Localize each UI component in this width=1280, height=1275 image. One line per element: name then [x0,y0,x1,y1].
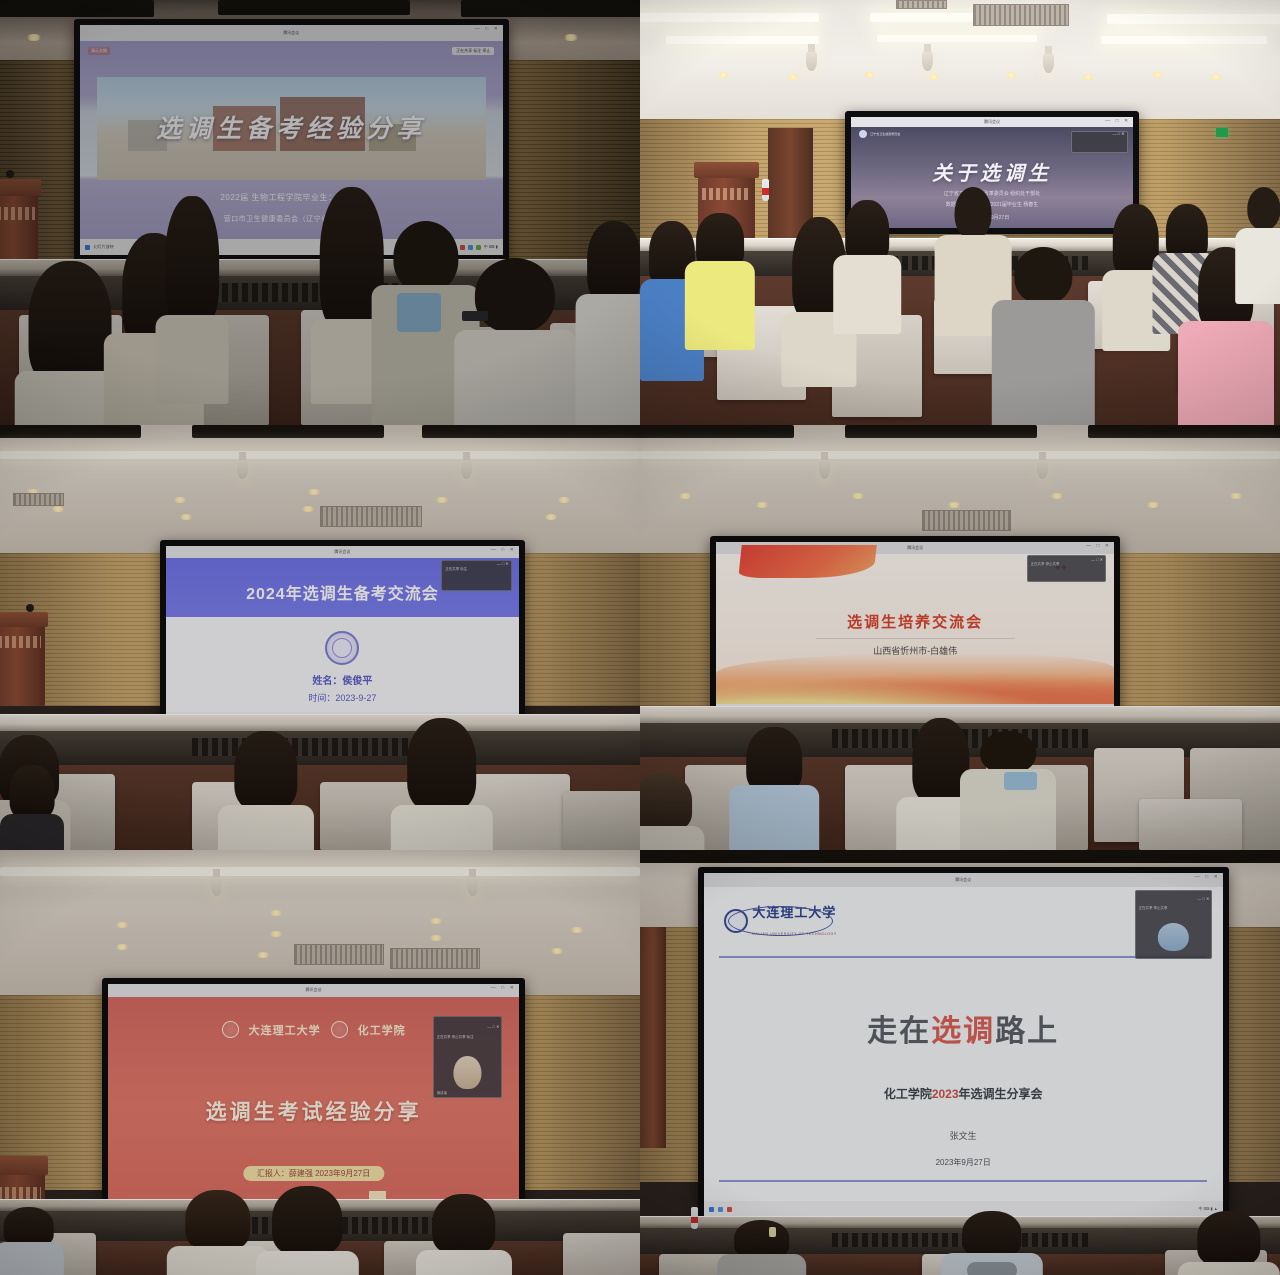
water-bottle [691,1207,698,1229]
camera-pip-window[interactable]: — □ ✕ 正在共享 停止共享 [1027,555,1107,582]
university-seal-icon [222,1021,239,1038]
audience-member [166,1190,268,1275]
photo-collage: 腾讯会议 — □ ✕ 演示文稿 正在共享 标注 停止 选调生备考经验分享 [0,0,1280,1275]
subtitle-part-b: 年选调生分享会 [959,1087,1043,1101]
audience-member [390,718,492,850]
slide-content: ✦✦ 选调生培养交流会 山西省忻州市-白雄伟 — □ ✕ 正在共享 停止共享 [716,554,1114,705]
audience-member [960,731,1056,850]
audience-member [730,727,820,850]
pip-share-label: 正在共享 标注 [442,567,511,572]
slide-university-logo: 大连理工大学 DALIAN UNIVERSITY OF TECHNOLOGY [724,902,836,940]
title-part-b: 路上 [995,1015,1059,1048]
audience-member [685,213,755,366]
photo-panel-1: 腾讯会议 — □ ✕ 演示文稿 正在共享 标注 停止 选调生备考经验分享 [0,0,640,425]
window-controls[interactable]: — □ ✕ [475,26,500,32]
camera-pip-window[interactable]: — □ ✕ 正在共享 停止共享 标注 演讲者 [433,1016,503,1098]
photo-panel-3: 腾讯会议 — □ ✕ 2024年选调生备考交流会 姓名：侯俊平 时间：2023-… [0,425,640,850]
window-controls[interactable]: — □ ✕ [1086,543,1111,549]
window-title: 腾讯会议 [306,987,322,993]
window-title-bar: 腾讯会议 — □ ✕ [80,25,503,41]
photo-panel-4: 腾讯会议 — □ ✕ ✦✦ 选调生培养交流会 山西省忻州市-白雄伟 — □ ✕ … [640,425,1280,850]
presenter-name: 张文生 [704,1129,1223,1142]
audience-member [256,1186,358,1275]
audience-member [640,774,704,851]
window-controls[interactable]: — □ ✕ [491,985,516,991]
projection-screen: 腾讯会议 — □ ✕ 2024年选调生备考交流会 姓名：侯俊平 时间：2023-… [160,540,525,731]
pip-footer-label: 演讲者 [437,1091,448,1096]
audience-member [576,221,640,425]
window-title: 腾讯会议 [334,549,350,555]
slide-org-logo: 辽宁省卫生健康委员会 [859,130,900,138]
projection-screen: 腾讯会议 — □ ✕ ✦✦ 选调生培养交流会 山西省忻州市-白雄伟 — □ ✕ … [710,536,1120,723]
slide-content: 2024年选调生备考交流会 姓名：侯俊平 时间：2023-9-27 — □ ✕ … [166,558,519,712]
slide-corner-tag: 演示文稿 [88,47,110,55]
slide-title: 选调生培养交流会 [716,611,1114,632]
subtitle-highlight: 2023 [932,1087,959,1101]
audience-member [0,1207,64,1275]
slide-line-2: 时间：2023-9-27 [166,691,519,704]
photo-panel-2: 腾讯会议 — □ ✕ 辽宁省卫生健康委员会 关于选调生 辽宁省卫生健康和改革委员… [640,0,1280,425]
title-highlight: 选调 [931,1015,995,1048]
audience-member [1235,187,1280,315]
audience-member [454,255,576,425]
presentation-date: 2023年9月27日 [704,1157,1223,1168]
slide-content: 大连理工大学 DALIAN UNIVERSITY OF TECHNOLOGY 走… [704,887,1223,1201]
backpack [967,1262,1016,1275]
photo-panel-5: 腾讯会议 — □ ✕ 大连理工大学 化工学院 选调生考试经验分享 汇报人：薛建强… [0,850,640,1275]
logo-college-label: 化工学院 [358,1022,406,1038]
lectern [0,612,45,706]
audience-member [416,1194,512,1275]
window-controls[interactable]: — □ ✕ [1105,118,1130,124]
slide-footer: 汇报人：薛建强 2023年9月27日 [243,1166,384,1181]
slide-logos: 大连理工大学 化工学院 [222,1021,406,1038]
water-bottle [762,179,769,201]
subtitle-part-a: 化工学院 [884,1087,932,1101]
projection-screen: 腾讯会议 — □ ✕ 大连理工大学 DALIAN UNIVERSITY OF T… [698,867,1229,1224]
audience-member [992,247,1094,426]
slide-line-1: 姓名：侯俊平 [166,672,519,687]
slide-title: 关于选调生 [851,157,1133,186]
university-seal-icon [724,909,748,933]
window-title: 腾讯会议 [984,119,1000,125]
slide-title: 走在选调路上 [704,1006,1223,1050]
pip-share-label: 正在共享 停止共享 标注 [434,1035,502,1040]
slide-title: 选调生考试经验分享 [108,1096,518,1126]
camera-pip-window[interactable]: — □ ✕ 正在共享 停止共享 [1135,890,1213,959]
audience-member [832,200,902,353]
university-seal-icon [325,631,359,665]
pip-share-label: 正在共享 停止共享 [1028,562,1106,567]
slide-subtitle-1: 2022届 生物工程学院毕业生：杨文潇 [80,192,503,203]
window-title: 腾讯会议 [955,877,971,883]
presenter-avatar [454,1056,481,1090]
logo-university-label: 大连理工大学 [249,1022,321,1038]
audience-member [218,731,314,850]
microphone-icon [26,604,34,612]
audience-member [1178,1211,1280,1275]
share-status-pill[interactable]: 正在共享 标注 停止 [452,47,494,55]
camera-pip-window[interactable]: — □ ✕ [1071,131,1127,153]
audience-member [0,765,64,850]
window-controls[interactable]: — □ ✕ [491,547,516,553]
title-part-a: 走在 [867,1015,931,1048]
door-frame [640,927,666,1148]
college-seal-icon [331,1021,348,1038]
pip-share-label: 正在共享 停止共享 [1136,906,1212,911]
slide-subtitle: 化工学院2023年选调生分享会 [704,1085,1223,1102]
audience-member [154,191,231,404]
slide-title: 选调生备考经验分享 [80,109,503,145]
audience-member [941,1211,1043,1275]
camera-pip-window[interactable]: — □ ✕ 正在共享 标注 [441,560,512,591]
window-title: 腾讯会议 [907,545,923,551]
slide-content: 演示文稿 正在共享 标注 停止 选调生备考经验分享 2022届 生物工程学院毕业… [80,41,503,239]
audience-member [717,1220,807,1275]
window-title: 腾讯会议 [283,30,299,36]
window-controls[interactable]: — □ ✕ [1195,874,1220,880]
photo-panel-6: 腾讯会议 — □ ✕ 大连理工大学 DALIAN UNIVERSITY OF T… [640,850,1280,1275]
hair-clip-icon [769,1227,776,1237]
exit-sign [1216,128,1228,137]
presenter-avatar [1158,923,1188,951]
